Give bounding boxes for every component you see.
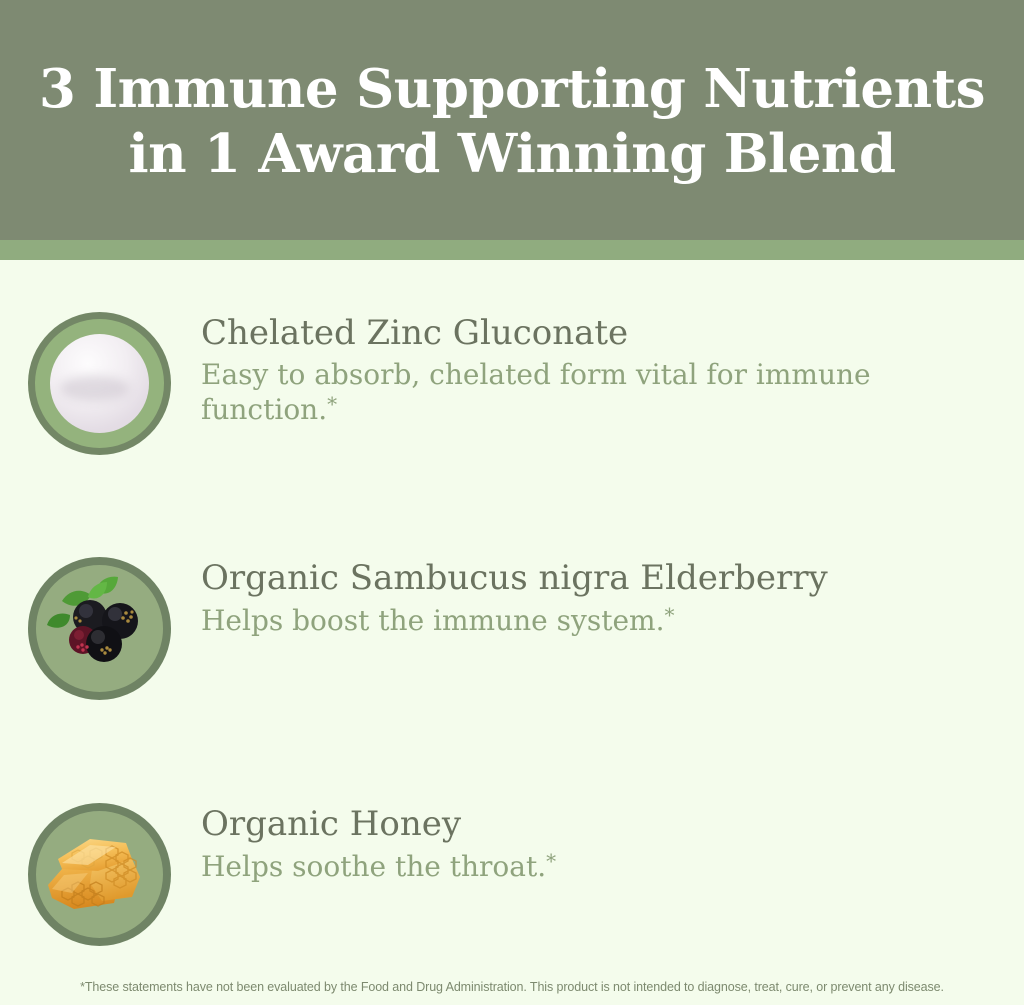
list-item-description: Easy to absorb, chelated form vital for … bbox=[201, 358, 891, 427]
list-item-description: Helps boost the immune system.* bbox=[201, 603, 891, 638]
footnote-marker: * bbox=[546, 849, 556, 873]
footnote-marker: * bbox=[664, 603, 674, 627]
list-item-title: Organic Sambucus nigra Elderberry bbox=[201, 559, 1024, 597]
list-item: Chelated Zinc Gluconate Easy to absorb, … bbox=[0, 312, 1024, 472]
zinc-powder-icon bbox=[28, 312, 171, 455]
list-item-title: Chelated Zinc Gluconate bbox=[201, 314, 1024, 352]
zinc-powder-surface bbox=[50, 334, 149, 433]
elderberry-icon bbox=[28, 557, 171, 700]
list-item-title: Organic Honey bbox=[201, 805, 1024, 843]
footnote-marker: * bbox=[327, 392, 337, 416]
disclaimer-text: *These statements have not been evaluate… bbox=[0, 980, 1024, 994]
list-item-description-text: Easy to absorb, chelated form vital for … bbox=[201, 358, 871, 426]
list-item-text: Chelated Zinc Gluconate Easy to absorb, … bbox=[201, 312, 1024, 427]
list-item-text: Organic Honey Helps soothe the throat.* bbox=[201, 803, 1024, 884]
header-accent-stripe bbox=[0, 240, 1024, 260]
list-item-description-text: Helps soothe the throat. bbox=[201, 850, 546, 883]
list-item: Organic Sambucus nigra Elderberry Helps … bbox=[0, 557, 1024, 717]
honeycomb-icon bbox=[28, 803, 171, 946]
list-item-description-text: Helps boost the immune system. bbox=[201, 604, 664, 637]
elderberry-artwork bbox=[28, 557, 171, 700]
page-title-line-1: 3 Immune Supporting Nutrients bbox=[12, 57, 1012, 122]
page-title-line-2: in 1 Award Winning Blend bbox=[12, 122, 1012, 187]
header-banner: 3 Immune Supporting Nutrients in 1 Award… bbox=[0, 0, 1024, 240]
list-item: Organic Honey Helps soothe the throat.* bbox=[0, 803, 1024, 963]
page-title: 3 Immune Supporting Nutrients in 1 Award… bbox=[12, 57, 1012, 186]
list-item-text: Organic Sambucus nigra Elderberry Helps … bbox=[201, 557, 1024, 638]
honeycomb-artwork bbox=[28, 803, 171, 946]
list-item-description: Helps soothe the throat.* bbox=[201, 849, 891, 884]
